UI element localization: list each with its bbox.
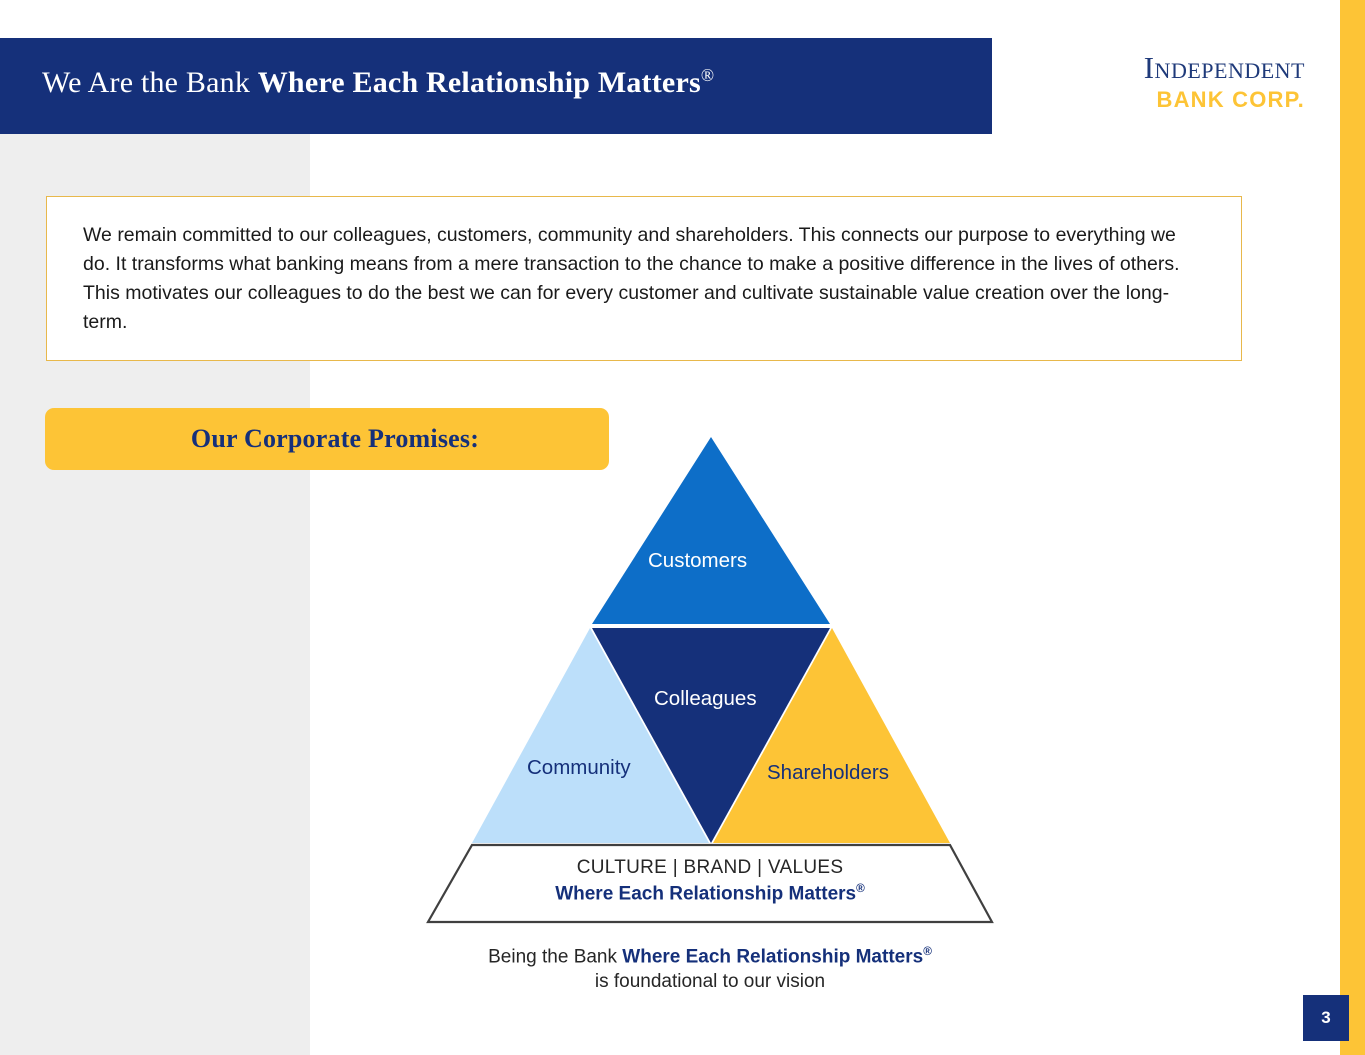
slide-canvas: We Are the Bank Where Each Relationship … (0, 0, 1365, 1055)
pyramid-base-tagline: Where Each Relationship Matters (555, 883, 856, 904)
page-number-badge: 3 (1303, 995, 1349, 1041)
caption-prefix: Being the Bank (488, 946, 622, 967)
pyramid-segment-customers (592, 437, 830, 624)
pyramid-label-customers: Customers (648, 549, 747, 573)
logo-wordmark-bankcorp: BANK CORP. (1030, 86, 1305, 114)
statement-box: We remain committed to our colleagues, c… (46, 196, 1242, 361)
pyramid-label-colleagues: Colleagues (654, 687, 757, 711)
right-gold-rail (1340, 0, 1365, 1055)
brand-logo: Independent BANK CORP. (1030, 50, 1305, 114)
pyramid-caption: Being the Bank Where Each Relationship M… (400, 939, 1020, 994)
registered-mark-icon: ® (701, 65, 714, 85)
page-title: We Are the Bank Where Each Relationship … (42, 58, 962, 100)
registered-mark-icon: ® (923, 945, 932, 958)
pyramid-base-line2: Where Each Relationship Matters® (428, 882, 992, 905)
page-title-plain: We Are the Bank (42, 66, 258, 99)
page-number-value: 3 (1303, 995, 1349, 1041)
statement-text: We remain committed to our colleagues, c… (83, 221, 1203, 337)
pyramid-label-shareholders: Shareholders (767, 761, 889, 785)
pyramid-label-community: Community (527, 756, 631, 780)
logo-wordmark-independent: Independent (1030, 50, 1305, 86)
page-title-bold: Where Each Relationship Matters (258, 66, 701, 99)
caption-tagline: Where Each Relationship Matters (622, 946, 923, 967)
pyramid-base-line1: CULTURE | BRAND | VALUES (428, 857, 992, 879)
registered-mark-icon: ® (856, 882, 865, 895)
caption-line2: is foundational to our vision (595, 971, 825, 992)
